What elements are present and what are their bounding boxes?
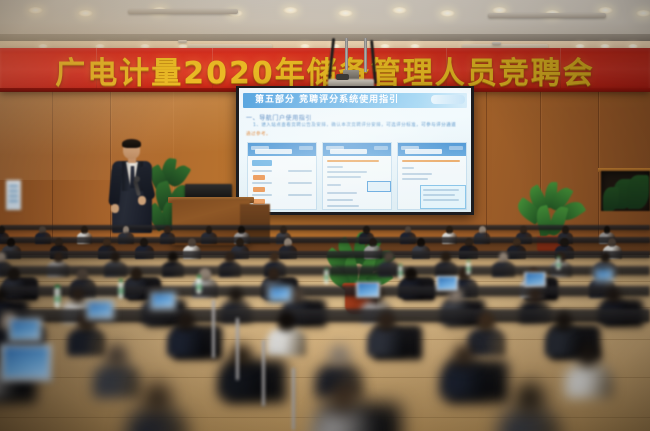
attendee-laptop <box>594 268 614 282</box>
attendee-head <box>520 226 527 234</box>
attendee-head <box>330 382 357 414</box>
attendee-head <box>601 252 611 263</box>
chair-leg <box>212 300 215 358</box>
bottle-cap <box>197 275 201 278</box>
attendee-head <box>238 226 245 234</box>
attendee-head <box>280 226 287 234</box>
desk-row <box>0 286 650 297</box>
slide-title-text: 第五部分 竞聘评分系统使用指引 <box>255 94 455 107</box>
attendee-head <box>513 238 521 247</box>
attendee-head <box>225 252 235 263</box>
water-bottle <box>556 258 561 270</box>
attendee-head <box>164 226 171 234</box>
projector-mount-rod-2 <box>364 38 367 72</box>
slide-panel-3 <box>397 142 467 210</box>
projector-lens <box>336 74 349 80</box>
wall-display-niche <box>601 171 650 211</box>
bottle-label <box>118 288 124 294</box>
slide-panel-2 <box>322 142 392 210</box>
bottle-label <box>324 275 329 280</box>
attendee-head <box>39 226 46 234</box>
chair-leg <box>236 318 239 380</box>
attendee-head <box>607 288 621 304</box>
attendee-head <box>81 226 88 234</box>
attendee-laptop <box>268 286 292 302</box>
projection-screen: 第五部分 竞聘评分系统使用指引 一、导航门户使用指引 1、进入站点查看竞聘公告及… <box>239 88 471 212</box>
attendee-head <box>465 238 473 247</box>
laptop-screen <box>526 273 544 285</box>
event-banner: 广电计量2020年储备管理人员竞聘会 <box>0 48 650 91</box>
slide-heading-3: 通过参考。 <box>246 131 271 137</box>
attendee-head <box>528 288 542 304</box>
attendee-head <box>405 268 416 281</box>
attendee-head <box>417 238 425 247</box>
attendee-head <box>578 344 599 368</box>
chair-leg <box>262 340 265 406</box>
attendee-laptop <box>86 300 114 320</box>
attendee-head <box>560 238 568 247</box>
laptop-screen <box>358 283 378 295</box>
attendee-head <box>363 226 370 234</box>
attendee-head <box>131 268 142 281</box>
attendee-head <box>562 226 569 234</box>
attendee-head <box>556 312 573 332</box>
chair-leg <box>292 368 295 430</box>
conference-hall-photo: 广电计量2020年储备管理人员竞聘会 第五部分 竞聘评分系统使用指引 一、导航门… <box>0 0 650 431</box>
water-bottle <box>398 266 403 279</box>
attendee-laptop <box>150 292 176 310</box>
attendee-head <box>446 226 453 234</box>
attendee-head <box>71 288 85 304</box>
desk-row <box>0 237 650 243</box>
attendee-head <box>479 226 486 234</box>
speaker-presenter <box>110 140 154 248</box>
bottle-cap <box>325 268 328 271</box>
attendee-head <box>270 252 280 263</box>
attendee-head <box>206 226 213 234</box>
bottle-cap <box>467 260 470 262</box>
laptop-screen <box>11 320 40 339</box>
attendee-head <box>106 344 127 368</box>
attendee-head <box>291 288 305 304</box>
attendee-head <box>378 312 395 332</box>
attendee-head <box>516 382 543 414</box>
attendee-head <box>123 226 130 234</box>
attendee-head <box>231 344 252 368</box>
attendee-head <box>405 226 412 234</box>
attendee-head <box>0 288 6 304</box>
bottle-label <box>556 263 561 267</box>
desk-row <box>0 251 650 258</box>
slide-heading-1: 一、导航门户使用指引 <box>246 113 312 122</box>
desk-row <box>0 225 650 230</box>
bottle-cap <box>399 264 402 266</box>
water-bottle <box>118 282 124 299</box>
attendee-head <box>188 238 196 247</box>
bottle-cap <box>557 256 560 258</box>
attendee-head <box>103 238 111 247</box>
attendee-head <box>329 344 350 368</box>
attendee-head <box>604 226 611 234</box>
laptop-screen <box>596 269 613 280</box>
attendee-laptop <box>524 272 546 287</box>
water-bottle <box>466 262 471 275</box>
laptop-screen <box>438 277 456 289</box>
laptop-screen <box>4 347 48 377</box>
attendee-head <box>178 312 195 332</box>
attendee-head <box>284 238 292 247</box>
wall-notice-sign <box>6 180 21 210</box>
attendee-head <box>144 382 171 414</box>
attendee-laptop <box>8 318 42 342</box>
attendee-head <box>478 312 495 332</box>
water-bottle <box>324 270 329 284</box>
bottle-cap <box>119 279 123 282</box>
attendee-head <box>384 252 394 263</box>
water-bottle <box>196 278 202 294</box>
attendee-laptop <box>436 276 458 291</box>
bottle-label <box>398 271 403 275</box>
attendee-head <box>0 226 5 234</box>
bottle-label <box>196 284 202 289</box>
attendee-head <box>278 312 295 332</box>
attendee-laptop <box>356 282 380 298</box>
attendee-head <box>111 252 121 263</box>
water-bottle <box>54 288 61 308</box>
attendee-head <box>454 344 475 368</box>
attendee-head <box>268 268 279 281</box>
slide-heading-2: 1、进入站点查看竞聘公告及安排，确认本次竞聘评分安排，可选评分标准，可参与评分通… <box>253 122 456 128</box>
bottle-label <box>54 296 61 303</box>
attendee-head <box>77 268 88 281</box>
laptop-screen <box>270 287 290 299</box>
attendee-head <box>54 252 64 263</box>
attendee-head <box>441 252 451 263</box>
attendee-laptop <box>0 344 52 382</box>
attendee-head <box>499 252 509 263</box>
laptop-screen <box>152 293 174 307</box>
laptop-screen <box>88 302 112 318</box>
slide-panel-1 <box>247 142 317 210</box>
bottle-cap <box>55 285 59 289</box>
attendee-head <box>369 238 377 247</box>
attendee-head <box>229 288 243 304</box>
projector-mount-rod <box>345 38 348 72</box>
attendee-head <box>8 268 19 281</box>
bottle-label <box>466 267 471 271</box>
attendee-head <box>168 252 178 263</box>
attendee-head <box>236 238 244 247</box>
attendee-head <box>55 238 63 247</box>
